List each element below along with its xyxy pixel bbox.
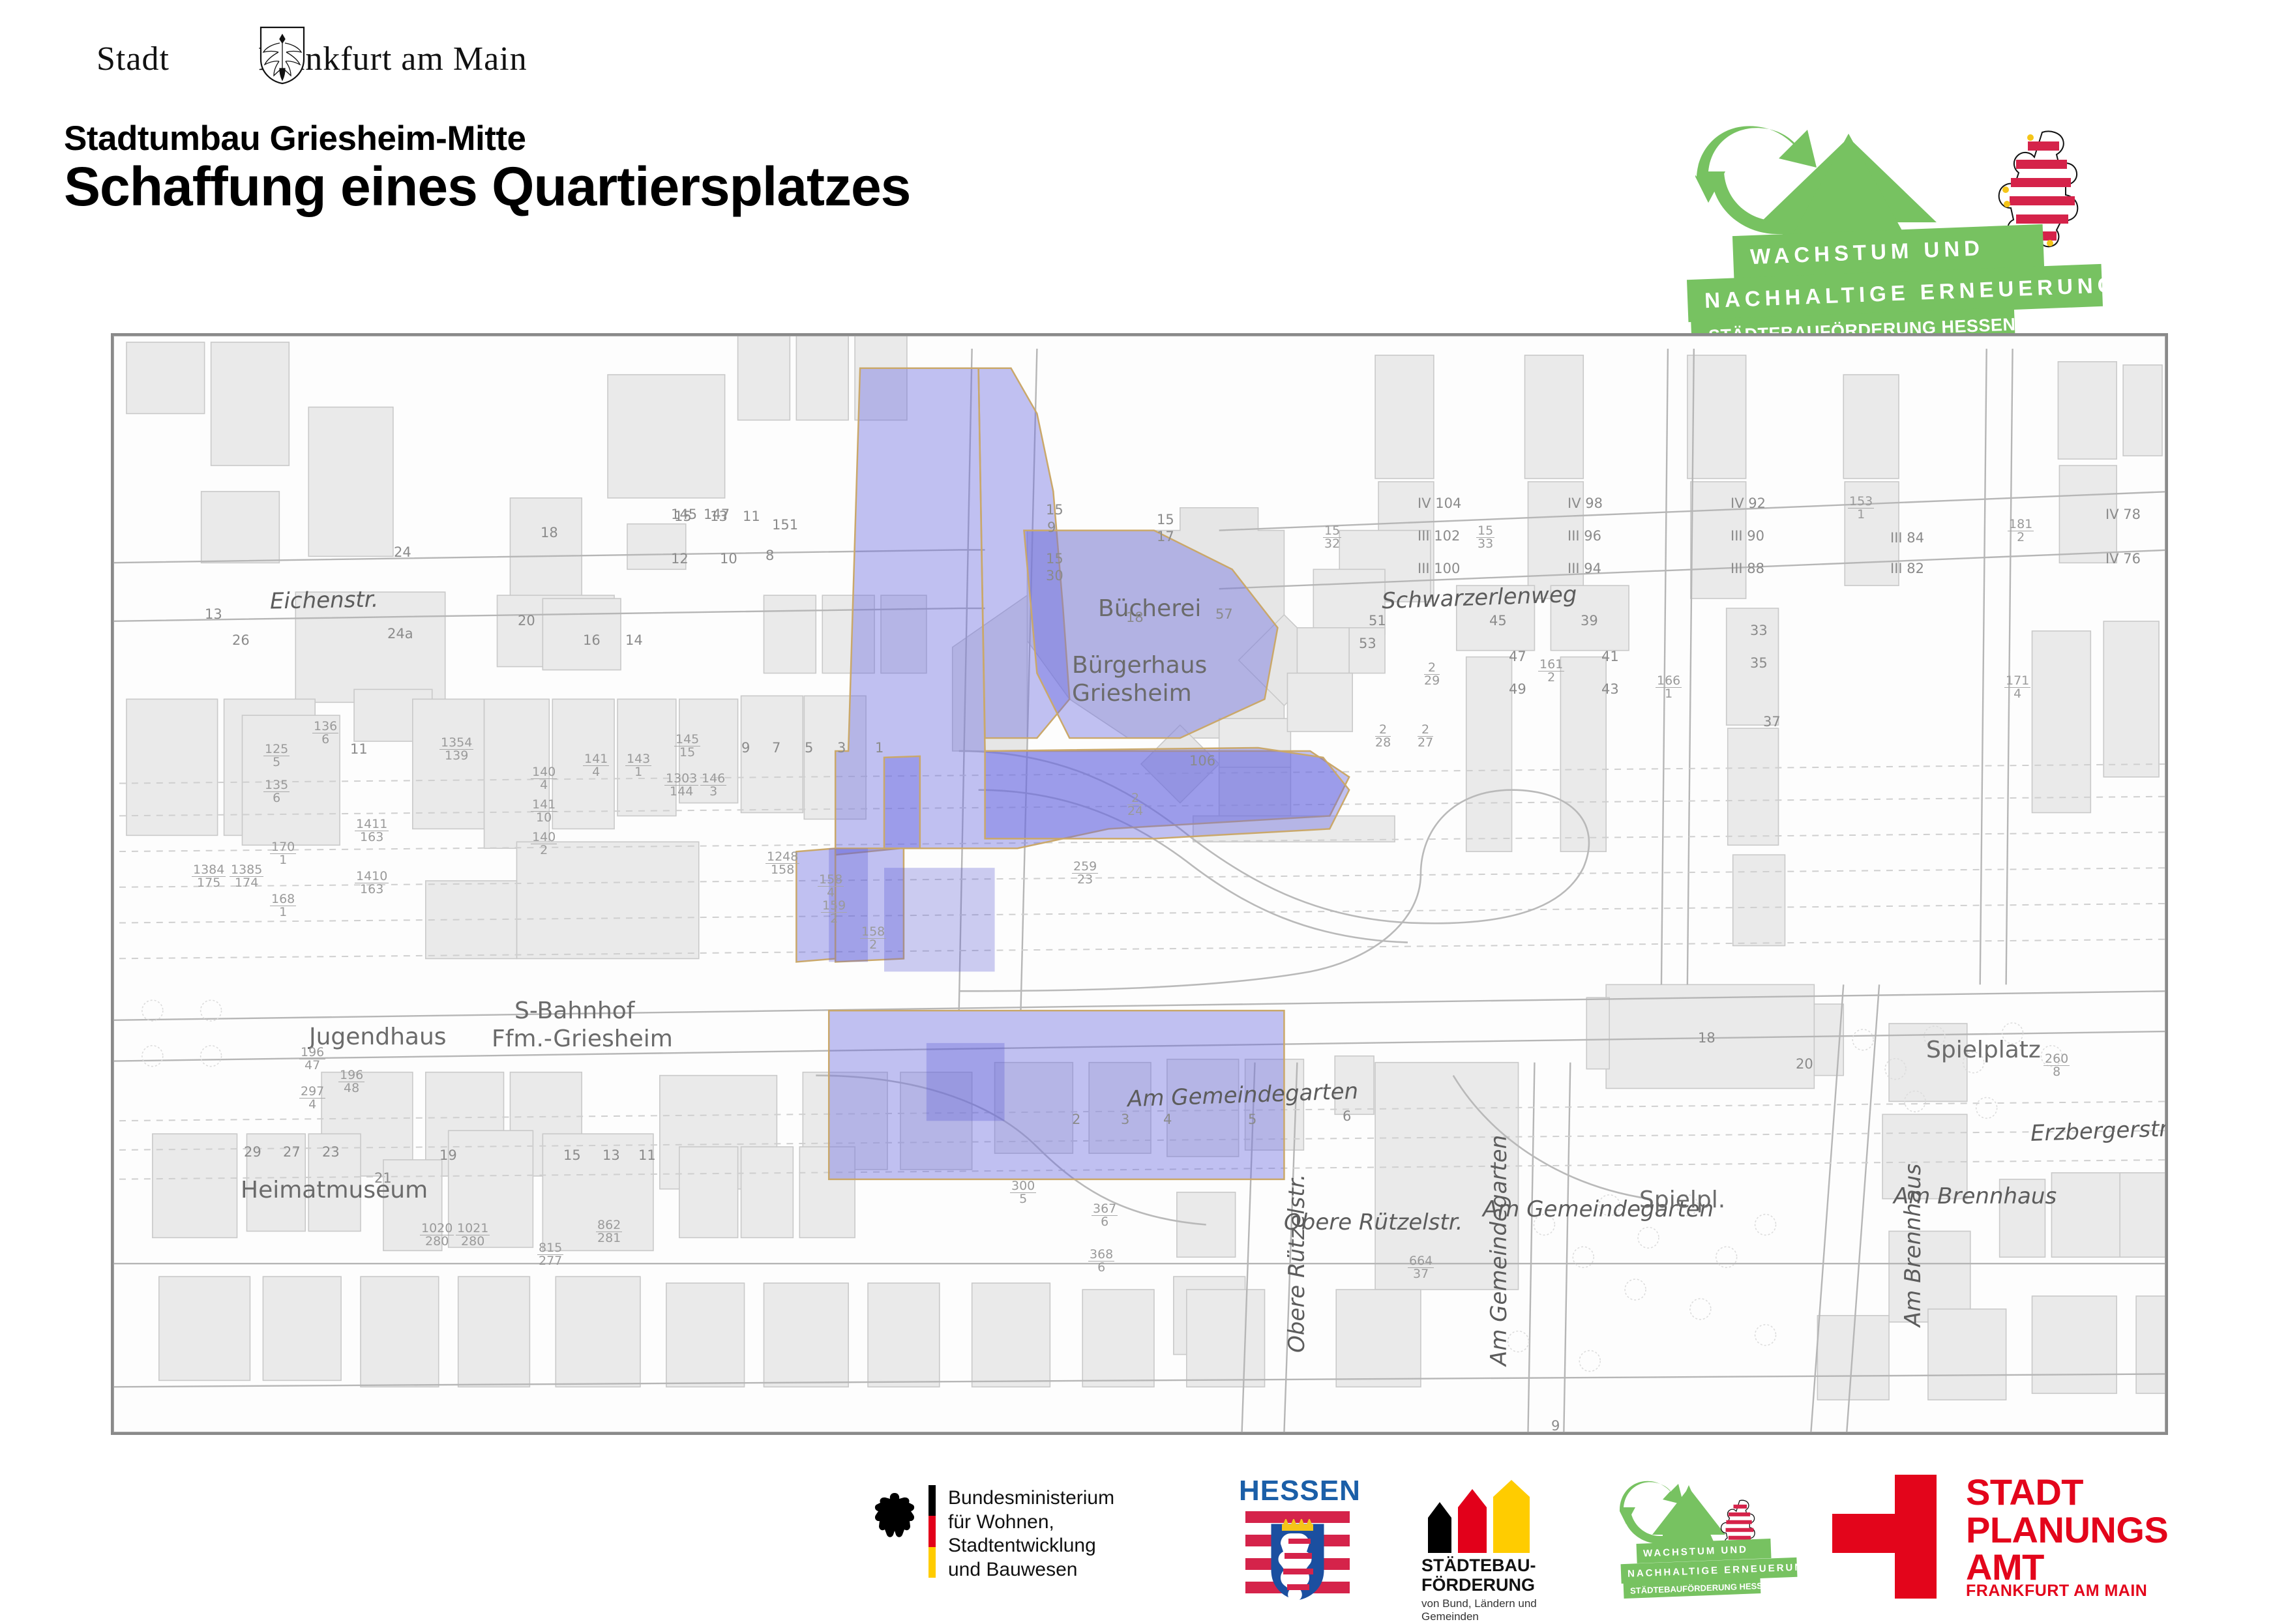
house-number-28: 17 (1157, 529, 1174, 544)
parcel-fraction-28: 1531 (1848, 495, 1874, 521)
house-number-42: 37 (1763, 714, 1781, 730)
parcel-fraction-12: 1411163 (355, 818, 389, 844)
house-number-47: III 96 (1567, 528, 1601, 544)
house-number-54: IV 78 (2105, 507, 2141, 522)
house-number-13: 145 (671, 507, 697, 522)
parcel-fraction-18: 1248158 (765, 851, 799, 876)
house-number-64: 29 (244, 1144, 261, 1160)
staedtebau-subcaption: von Bund, Ländern und Gemeinden (1421, 1597, 1537, 1624)
parcel-fraction-38: 3676 (1092, 1203, 1118, 1228)
parcel-fraction-24: 229 (1424, 662, 1440, 687)
parcel-fraction-29: 1661 (1656, 675, 1682, 700)
page-title: Schaffung eines Quartiersplatzes (64, 155, 910, 218)
house-number-58: 20 (1796, 1056, 1813, 1072)
house-number-27: 15 (1157, 512, 1174, 527)
house-number-29: 18 (1126, 610, 1144, 625)
three-houses-icon (1421, 1480, 1571, 1553)
parcel-fraction-20: 1592 (821, 900, 847, 925)
house-number-62: 5 (1248, 1112, 1256, 1127)
parcel-fraction-5: 1414 (583, 753, 609, 778)
house-number-71: 11 (638, 1147, 656, 1163)
parcel-fraction-41: 2608 (2043, 1053, 2070, 1078)
parcel-fraction-40: 66437 (1408, 1255, 1434, 1280)
parcel-fraction-16: 1701 (270, 841, 296, 866)
house-number-2: 26 (232, 632, 250, 648)
house-number-3: 20 (518, 613, 535, 628)
street-label-0: Eichenstr. (270, 587, 379, 615)
parcel-fraction-33: 1533 (1476, 525, 1494, 550)
house-number-22: 1 (875, 740, 884, 756)
parcel-fraction-17: 1681 (270, 893, 296, 919)
parcel-fraction-32: 1532 (1323, 525, 1341, 550)
house-number-5: 16 (583, 632, 601, 648)
parcel-fraction-14: 1384175 (192, 864, 226, 889)
highlight-area (796, 368, 1349, 1179)
hessen-wordmark: HESSEN (1239, 1475, 1356, 1507)
parcel-fraction-39: 3686 (1088, 1248, 1114, 1274)
poi-label-0: Bücherei (1098, 595, 1201, 622)
street-label-vertical-0: Obere Rützelstr. (1284, 1174, 1310, 1353)
city-of-frankfurt-logo: Stadt Frankfurt am Main (97, 36, 514, 81)
parcel-fraction-27: 1612 (1538, 658, 1564, 684)
house-number-69: 15 (563, 1147, 581, 1163)
street-label-4: Obere Rützelstr. (1284, 1209, 1463, 1235)
house-number-50: III 90 (1731, 528, 1764, 544)
staedtebau-sub1: von Bund, Ländern und (1421, 1597, 1537, 1610)
poi-label-1: Bürgerhaus (1072, 652, 1207, 679)
street-label-3: Erzbergerstr. (2030, 1115, 2168, 1147)
house-number-66: 23 (322, 1144, 340, 1160)
page-subtitle: Stadtumbau Griesheim-Mitte (64, 119, 526, 158)
house-number-9: 8 (765, 548, 774, 563)
bmwsb-logo: Bundesministerium für Wohnen, Stadtentwi… (874, 1483, 1187, 1580)
spa-block-mark-icon (1832, 1475, 1937, 1599)
house-number-67: 21 (374, 1170, 392, 1186)
parcel-fraction-6: 1431 (625, 753, 651, 778)
house-number-24: 9 (1047, 520, 1056, 535)
parcel-fraction-19: 1584 (818, 874, 844, 899)
house-number-14: 147 (704, 507, 730, 522)
parcel-fraction-15: 1385174 (230, 864, 263, 889)
parcel-fraction-3: 1354139 (439, 737, 473, 762)
house-number-41: 35 (1750, 655, 1768, 671)
house-number-21: 3 (837, 740, 846, 756)
city-logo-text-left: Stadt (97, 40, 170, 78)
parcel-fraction-8: 1402 (531, 831, 557, 857)
parcel-fraction-9: 1303144 (664, 773, 698, 798)
bundesadler-icon (874, 1492, 915, 1543)
poi-label-6: Heimatmuseum (241, 1177, 428, 1203)
house-number-35: 39 (1581, 613, 1598, 628)
bmwsb-line1: Bundesministerium (948, 1486, 1187, 1511)
frankfurt-eagle-crest-icon (258, 25, 306, 85)
house-number-36: 47 (1509, 649, 1526, 664)
staedtebaufoerderung-logo: STÄDTEBAU- FÖRDERUNG von Bund, Ländern u… (1421, 1483, 1597, 1610)
house-number-57: 18 (1698, 1030, 1716, 1046)
house-number-30: 106 (1189, 753, 1215, 769)
house-number-33: 53 (1359, 636, 1376, 651)
cadastral-map[interactable]: Eichenstr.SchwarzerlenwegAm Gemeindegart… (111, 333, 2168, 1435)
bmwsb-line2: für Wohnen, Stadtentwicklung (948, 1511, 1187, 1558)
spa-wordmark: STADT PLANUNGS AMT (1966, 1473, 2168, 1586)
stadtplanungsamt-logo: STADT PLANUNGS AMT FRANKFURT AM MAIN (1832, 1475, 2197, 1605)
house-number-51: III 88 (1731, 561, 1764, 576)
parcel-fraction-43: 815277 (537, 1242, 563, 1267)
house-number-6: 14 (625, 632, 643, 648)
house-number-23: 15 (1046, 502, 1063, 518)
parcel-fraction-37: 3005 (1010, 1180, 1036, 1205)
house-number-19: 7 (772, 740, 780, 756)
staedtebau-line1: STÄDTEBAU- (1421, 1556, 1536, 1575)
house-number-53: III 82 (1890, 561, 1924, 576)
german-flag-bar (929, 1485, 936, 1578)
house-number-68: 19 (439, 1147, 457, 1163)
house-number-40: 33 (1750, 623, 1768, 638)
parcel-fraction-42: 862281 (596, 1219, 622, 1245)
parcel-fraction-1: 1255 (263, 743, 290, 769)
staedtebau-caption: STÄDTEBAU- FÖRDERUNG (1421, 1556, 1536, 1595)
page-footer: Bundesministerium für Wohnen, Stadtentwi… (0, 1467, 2288, 1617)
house-number-4: 18 (541, 525, 558, 540)
parcel-fraction-13: 1410163 (355, 870, 389, 896)
house-number-55: IV 76 (2105, 551, 2141, 567)
house-number-48: III 94 (1567, 561, 1601, 576)
house-number-25: 15 (1046, 551, 1063, 567)
street-label-vertical-1: Am Brennhaus (1900, 1164, 1926, 1327)
parcel-fraction-0: 1366 (312, 720, 338, 746)
house-number-46: IV 98 (1567, 495, 1603, 511)
house-number-72: 9 (1551, 1418, 1560, 1434)
bmwsb-text: Bundesministerium für Wohnen, Stadtentwi… (948, 1486, 1187, 1582)
parcel-fraction-23: 25923 (1072, 861, 1098, 886)
staedtebau-line2: FÖRDERUNG (1421, 1575, 1536, 1595)
poi-label-2: Griesheim (1072, 680, 1192, 707)
parcel-fraction-34: 19647 (299, 1046, 325, 1072)
spa-subline: FRANKFURT AM MAIN (1966, 1582, 2147, 1601)
spa-line2: PLANUNGS (1966, 1511, 2168, 1549)
house-number-43: IV 104 (1418, 495, 1461, 511)
parcel-fraction-26: 227 (1418, 724, 1433, 749)
house-number-34: 45 (1489, 613, 1507, 628)
parcel-fraction-44: 1020280 (420, 1222, 454, 1248)
house-number-39: 43 (1601, 681, 1619, 697)
parcel-fraction-21: 1582 (860, 926, 886, 951)
poi-label-3: S-Bahnhof (514, 997, 634, 1024)
parcel-fraction-4: 1404 (531, 766, 557, 791)
bmwsb-line3: und Bauwesen (948, 1558, 1187, 1582)
house-number-8: 10 (720, 551, 737, 567)
house-number-45: III 100 (1418, 561, 1460, 576)
house-number-31: 57 (1215, 606, 1233, 622)
spa-line3: AMT (1966, 1548, 2168, 1586)
poi-label-8: Spielpl. (1639, 1187, 1725, 1213)
house-number-63: 6 (1343, 1108, 1351, 1124)
parcel-fraction-10: 1463 (700, 773, 726, 798)
parcel-fraction-2: 1356 (263, 779, 290, 805)
parcel-fraction-30: 1714 (2004, 675, 2030, 700)
parcel-fraction-7: 14110 (531, 799, 557, 824)
house-number-60: 3 (1121, 1112, 1129, 1127)
house-number-44: III 102 (1418, 528, 1460, 544)
house-number-32: 51 (1369, 613, 1386, 628)
house-number-16: 11 (350, 741, 368, 757)
house-number-20: 5 (805, 740, 813, 756)
parcel-fraction-11: 14515 (674, 733, 700, 759)
house-number-17: 13 (205, 606, 222, 622)
parcel-fraction-36: 2974 (299, 1085, 325, 1111)
hessen-logo: HESSEN (1239, 1475, 1356, 1608)
street-label-vertical-2: Am Gemeindegarten (1486, 1135, 1512, 1366)
house-number-70: 13 (602, 1147, 620, 1163)
parcel-fraction-22: 224 (1127, 792, 1143, 818)
program-logo-wachstum-small: WACHSTUM UND NACHHALTIGE ERNEUERUNG STÄD… (1624, 1479, 1819, 1609)
house-number-49: IV 92 (1731, 495, 1766, 511)
house-number-15: 151 (772, 517, 798, 533)
parcel-fraction-31: 1812 (2008, 518, 2034, 544)
poi-label-5: Jugendhaus (309, 1024, 447, 1050)
hessen-coat-of-arms-icon (1245, 1509, 1350, 1608)
parcel-fraction-45: 1021280 (456, 1222, 490, 1248)
city-logo-wordmark: Stadt Frankfurt am Main (97, 40, 527, 78)
house-number-18: 9 (741, 740, 750, 756)
house-number-38: 41 (1601, 649, 1619, 664)
house-number-61: 4 (1163, 1112, 1172, 1127)
house-number-26: 30 (1046, 568, 1063, 583)
poi-label-4: Ffm.-Griesheim (492, 1026, 673, 1052)
house-number-1: 24a (387, 626, 413, 642)
house-number-12: 11 (743, 509, 760, 524)
house-number-65: 27 (283, 1144, 301, 1160)
staedtebau-sub2: Gemeinden (1421, 1610, 1537, 1623)
house-number-52: III 84 (1890, 530, 1924, 546)
house-number-0: 24 (394, 544, 411, 560)
page-header: Stadt Frankfurt am Main Stadtumbau Gries… (0, 0, 2288, 326)
house-number-37: 49 (1509, 681, 1526, 697)
poi-label-7: Spielplatz (1926, 1037, 2041, 1063)
parcel-fraction-25: 228 (1375, 724, 1391, 749)
house-number-7: 12 (671, 551, 689, 567)
house-number-59: 2 (1072, 1112, 1080, 1127)
spa-line1: STADT (1966, 1473, 2168, 1511)
parcel-fraction-35: 19648 (338, 1069, 364, 1095)
